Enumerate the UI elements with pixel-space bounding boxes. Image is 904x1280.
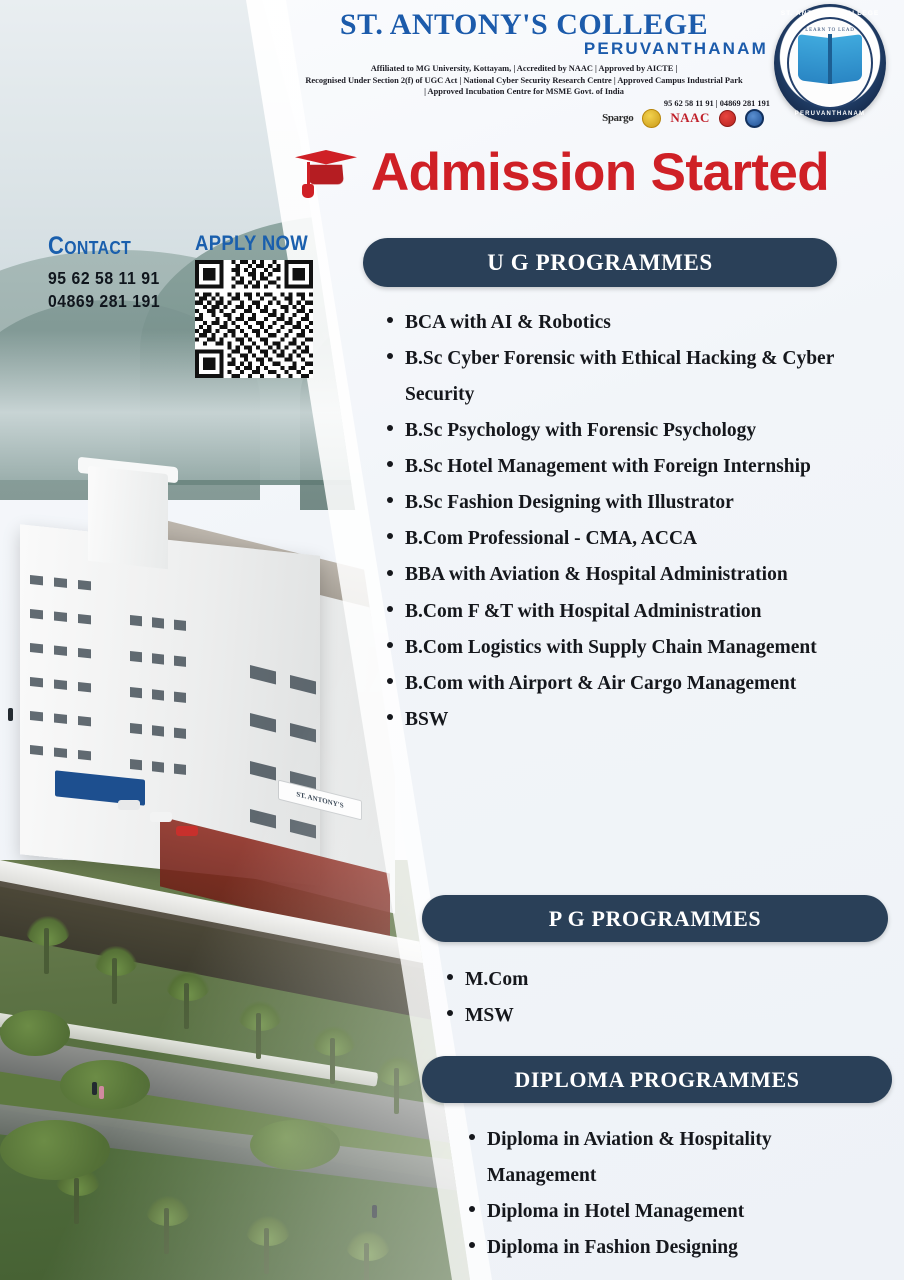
list-item: B.Com Professional - CMA, ACCA bbox=[383, 521, 883, 557]
poster-header: ST. ANTONY'S COLLEGE PERUVANTHANAM Affil… bbox=[0, 0, 904, 140]
diploma-programmes-heading: DIPLOMA PROGRAMMES bbox=[422, 1056, 892, 1103]
emblem-top-text: ST. ANTONY'S COLLEGE bbox=[774, 10, 886, 17]
accreditation-line-1: Affiliated to MG University, Kottayam, |… bbox=[274, 63, 774, 75]
emblem-bottom-text: PERUVANTHANAM bbox=[774, 111, 886, 117]
spargo-badge: Spargo bbox=[602, 112, 633, 124]
list-item: B.Sc Hotel Management with Foreign Inter… bbox=[383, 449, 883, 485]
list-item: M.Com bbox=[443, 962, 863, 998]
accreditation-line-2: Recognised Under Section 2(f) of UGC Act… bbox=[274, 75, 774, 87]
graduation-cap-icon bbox=[295, 142, 357, 202]
list-item: Diploma in Fashion Designing bbox=[465, 1230, 885, 1266]
college-place: PERUVANTHANAM bbox=[274, 39, 774, 59]
list-item: Diploma in Aviation & Hospitality Manage… bbox=[465, 1122, 885, 1194]
college-name: ST. ANTONY'S COLLEGE bbox=[274, 10, 774, 41]
list-item: BSW bbox=[383, 702, 883, 738]
naac-badge: NAAC bbox=[670, 110, 710, 126]
phone-number-2: 04869 281 191 bbox=[48, 290, 164, 313]
title-row: Admission Started bbox=[295, 142, 829, 202]
list-item: B.Com with Airport & Air Cargo Managemen… bbox=[383, 666, 883, 702]
list-item: B.Sc Cyber Forensic with Ethical Hacking… bbox=[383, 341, 883, 413]
qr-code[interactable] bbox=[195, 260, 313, 378]
accreditation-line-3: | Approved Incubation Centre for MSME Go… bbox=[274, 86, 774, 98]
red-circle-badge bbox=[719, 110, 736, 127]
ug-programmes-list: BCA with AI & Robotics B.Sc Cyber Forens… bbox=[383, 305, 883, 738]
admission-poster: ST. ANTONY'S bbox=[0, 0, 904, 1280]
gold-seal-badge bbox=[642, 109, 661, 128]
pg-programmes-list: M.Com MSW bbox=[443, 962, 863, 1034]
contact-label: Contact bbox=[48, 232, 161, 261]
list-item: B.Sc Fashion Designing with Illustrator bbox=[383, 485, 883, 521]
list-item: BBA with Aviation & Hospital Administrat… bbox=[383, 557, 883, 593]
list-item: B.Com F &T with Hospital Administration bbox=[383, 594, 883, 630]
blue-circle-badge bbox=[745, 109, 764, 128]
pg-programmes-heading: P G PROGRAMMES bbox=[422, 895, 888, 942]
diploma-programmes-list: Diploma in Aviation & Hospitality Manage… bbox=[465, 1122, 885, 1266]
list-item: B.Sc Psychology with Forensic Psychology bbox=[383, 413, 883, 449]
list-item: BCA with AI & Robotics bbox=[383, 305, 883, 341]
list-item: B.Com Logistics with Supply Chain Manage… bbox=[383, 630, 883, 666]
page-title: Admission Started bbox=[371, 146, 829, 199]
list-item: MSW bbox=[443, 998, 863, 1034]
list-item: Diploma in Hotel Management bbox=[465, 1194, 885, 1230]
phone-number-1: 95 62 58 11 91 bbox=[48, 267, 164, 290]
college-logo-emblem: ST. ANTONY'S COLLEGE LEARN TO LEAD PERUV… bbox=[774, 4, 886, 122]
apply-now-label: APPLY NOW bbox=[195, 232, 308, 256]
emblem-motto: LEARN TO LEAD bbox=[774, 28, 886, 33]
accreditation-badges: Spargo NAAC bbox=[585, 103, 781, 133]
ug-programmes-heading: U G PROGRAMMES bbox=[363, 238, 837, 287]
contact-block: Contact 95 62 58 11 91 04869 281 191 APP… bbox=[48, 232, 323, 383]
open-book-icon bbox=[798, 36, 862, 82]
